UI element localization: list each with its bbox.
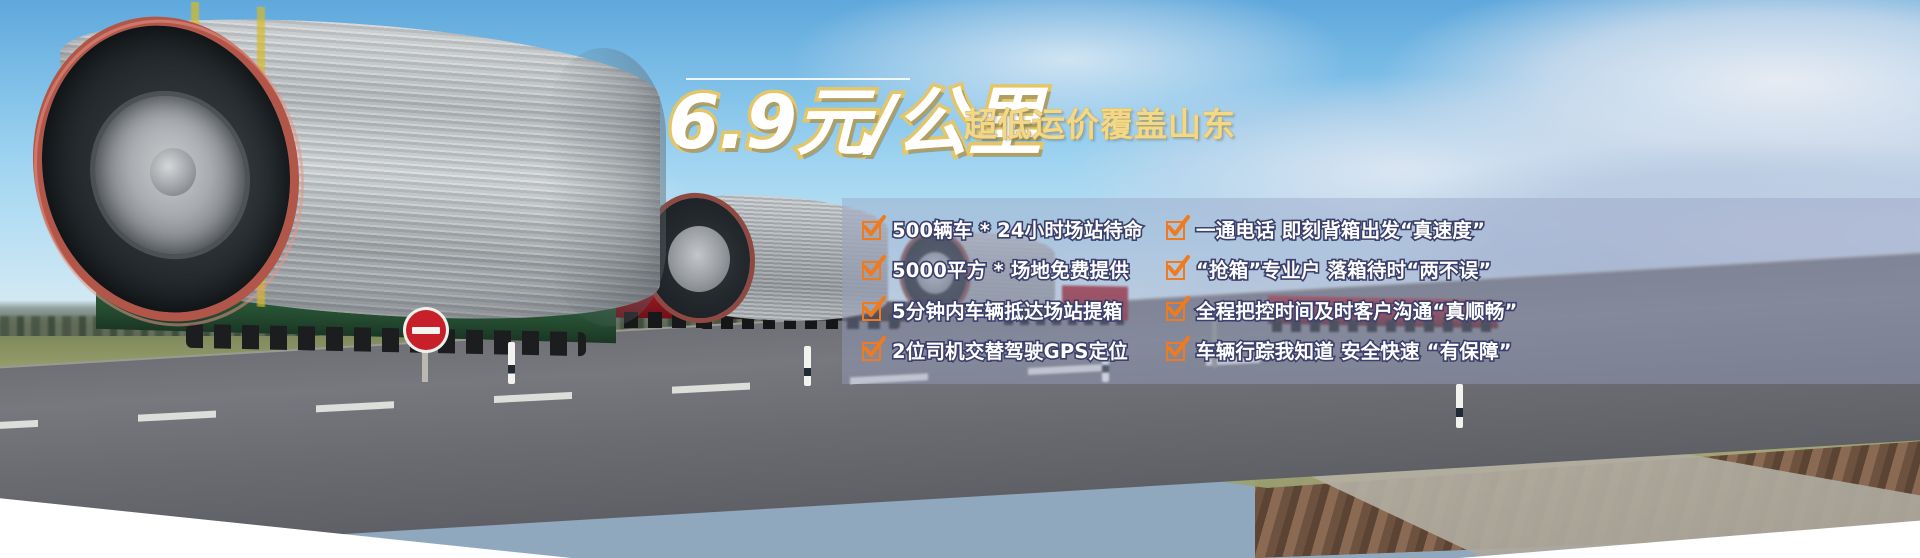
checkbox-check-icon (1166, 302, 1185, 321)
feature-label: 5分钟内车辆抵达场站提箱 (892, 302, 1122, 322)
checkbox-check-icon (862, 302, 881, 321)
roadside-marker-post (804, 346, 811, 386)
checkbox-check-icon (1166, 342, 1185, 361)
feature-item: 一通电话 即刻背箱出发“真速度” (1166, 210, 1920, 251)
no-motor-vehicles-sign-icon (406, 310, 446, 350)
feature-overlay-panel: 500辆车 * 24小时场站待命 一通电话 即刻背箱出发“真速度” 5000平方… (842, 198, 1920, 384)
feature-item: 5分钟内车辆抵达场站提箱 (862, 291, 1152, 332)
feature-label: 5000平方 * 场地免费提供 (892, 261, 1129, 281)
feature-label: 车辆行踪我知道 安全快速 “有保障” (1196, 342, 1512, 362)
feature-label: 500辆车 * 24小时场站待命 (892, 221, 1143, 241)
price-subheadline: 超低运价覆盖山东 (964, 108, 1236, 141)
feature-item: 500辆车 * 24小时场站待命 (862, 210, 1152, 251)
checkbox-check-icon (1166, 261, 1185, 280)
sign-post (422, 348, 428, 382)
feature-grid: 500辆车 * 24小时场站待命 一通电话 即刻背箱出发“真速度” 5000平方… (842, 198, 1920, 384)
feature-item: “抢箱”专业户 落箱待时“两不误” (1166, 251, 1920, 292)
promo-banner: 6.9元/公里 超低运价覆盖山东 500辆车 * 24小时场站待命 一通 (0, 0, 1920, 558)
feature-label: 一通电话 即刻背箱出发“真速度” (1196, 221, 1485, 241)
roadside-marker-post (1456, 384, 1463, 428)
checkbox-check-icon (862, 221, 881, 240)
checkbox-check-icon (862, 342, 881, 361)
checkbox-check-icon (862, 261, 881, 280)
feature-item: 5000平方 * 场地免费提供 (862, 251, 1152, 292)
feature-item: 全程把控时间及时客户沟通“真顺畅” (1166, 291, 1920, 332)
cargo-tank-interior (668, 226, 730, 292)
feature-item: 2位司机交替驾驶GPS定位 (862, 332, 1152, 373)
cargo-tank-hub (150, 148, 196, 196)
feature-label: 全程把控时间及时客户沟通“真顺畅” (1196, 302, 1518, 322)
feature-item: 车辆行踪我知道 安全快速 “有保障” (1166, 332, 1920, 373)
feature-label: 2位司机交替驾驶GPS定位 (892, 342, 1128, 362)
roadside-marker-post (508, 342, 515, 384)
feature-label: “抢箱”专业户 落箱待时“两不误” (1196, 261, 1491, 281)
checkbox-check-icon (1166, 221, 1185, 240)
headline-block: 6.9元/公里 超低运价覆盖山东 (668, 74, 1428, 164)
